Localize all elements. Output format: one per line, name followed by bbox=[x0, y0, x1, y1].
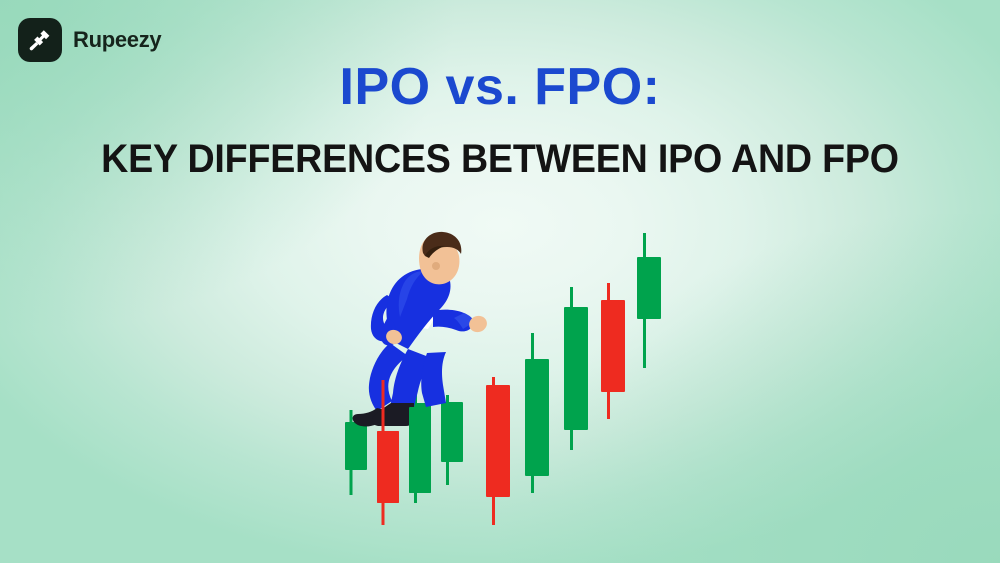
candle-7-up bbox=[564, 287, 588, 450]
rupeezy-hammer-icon bbox=[18, 18, 62, 62]
brand-logo[interactable]: Rupeezy bbox=[18, 18, 161, 62]
running-businessman-figure bbox=[353, 232, 489, 427]
page-subtitle: KEY DIFFERENCES BETWEEN IPO AND FPO bbox=[30, 137, 970, 181]
page-title: IPO vs. FPO: bbox=[0, 60, 1000, 115]
candle-8-down bbox=[601, 283, 625, 419]
candle-5-down bbox=[486, 377, 510, 525]
brand-wordmark: Rupeezy bbox=[73, 29, 161, 51]
candle-6-up bbox=[525, 333, 549, 493]
banner-canvas: Rupeezy IPO vs. FPO: KEY DIFFERENCES BET… bbox=[0, 0, 1000, 563]
hero-illustration bbox=[330, 225, 675, 525]
candle-4-up bbox=[441, 395, 463, 485]
candle-9-up bbox=[637, 233, 661, 368]
